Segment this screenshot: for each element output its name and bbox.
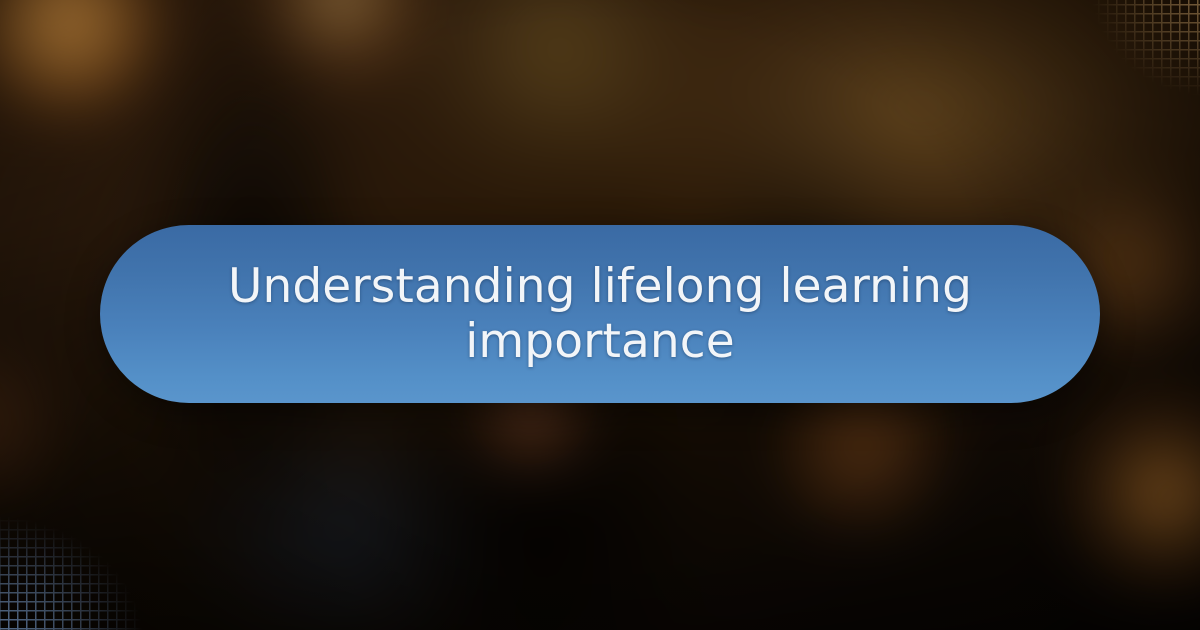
page-title: Understanding lifelong learning importan…: [185, 259, 1015, 370]
social-card: Understanding lifelong learning importan…: [0, 0, 1200, 630]
title-line-2: importance: [465, 314, 735, 369]
title-pill: Understanding lifelong learning importan…: [100, 225, 1100, 403]
title-line-1: Understanding lifelong learning: [228, 259, 972, 314]
